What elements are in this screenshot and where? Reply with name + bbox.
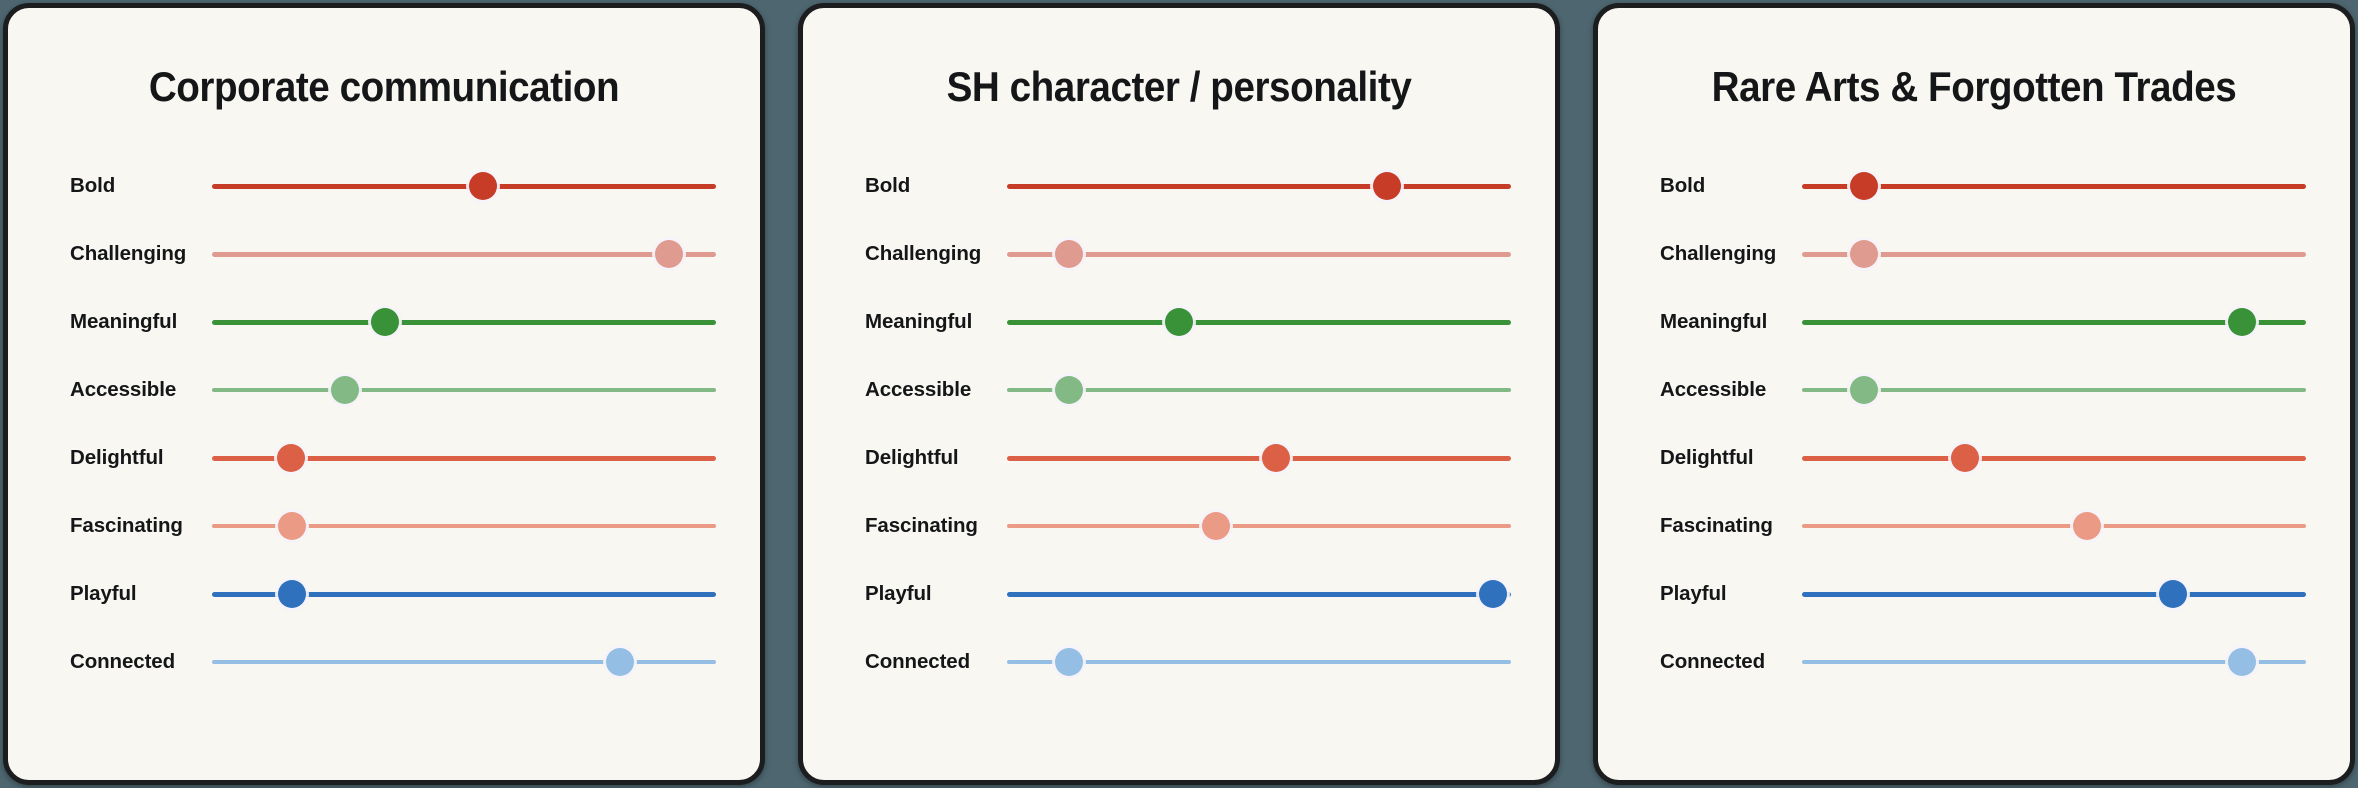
slider-control[interactable] [1802,647,2306,677]
slider-row[interactable]: Challenging [8,220,760,288]
slider-label: Connected [1660,650,1802,674]
slider-thumb[interactable] [278,512,306,540]
slider-label: Challenging [70,242,212,266]
slider-track[interactable] [212,660,716,664]
slider-label: Accessible [865,378,1007,402]
slider-thumb[interactable] [1055,240,1083,268]
slider-row[interactable]: Challenging [1598,220,2350,288]
slider-thumb[interactable] [1165,308,1193,336]
slider-label: Delightful [1660,446,1802,470]
slider-label: Challenging [865,242,1007,266]
slider-thumb[interactable] [2228,308,2256,336]
slider-thumb[interactable] [2159,580,2187,608]
slider-control[interactable] [1802,239,2306,269]
slider-thumb[interactable] [1262,444,1290,472]
slider-row[interactable]: Delightful [803,424,1555,492]
slider-row[interactable]: Playful [803,560,1555,628]
slider-control[interactable] [212,647,716,677]
slider-control[interactable] [1007,443,1511,473]
slider-thumb[interactable] [278,580,306,608]
slider-row[interactable]: Bold [1598,152,2350,220]
slider-label: Bold [1660,174,1802,198]
slider-label: Bold [70,174,212,198]
slider-control[interactable] [1802,307,2306,337]
slider-control[interactable] [212,307,716,337]
slider-list-2: BoldChallengingMeaningfulAccessibleDelig… [803,152,1555,696]
slider-track[interactable] [212,388,716,392]
slider-list-1: BoldChallengingMeaningfulAccessibleDelig… [8,152,760,696]
slider-track[interactable] [1007,592,1511,597]
slider-thumb[interactable] [2228,648,2256,676]
slider-label: Meaningful [865,310,1007,334]
slider-list-3: BoldChallengingMeaningfulAccessibleDelig… [1598,152,2350,696]
slider-control[interactable] [1802,511,2306,541]
comparison-card-1: Corporate communication BoldChallengingM… [3,3,765,785]
slider-row[interactable]: Playful [1598,560,2350,628]
slider-control[interactable] [1007,307,1511,337]
slider-row[interactable]: Fascinating [803,492,1555,560]
slider-row[interactable]: Accessible [1598,356,2350,424]
slider-control[interactable] [1007,579,1511,609]
slider-row[interactable]: Bold [8,152,760,220]
slider-row[interactable]: Meaningful [8,288,760,356]
page-title: Rare Arts & Forgotten Trades [1628,66,2320,108]
slider-track[interactable] [1007,456,1511,461]
slider-track[interactable] [1007,320,1511,325]
slider-thumb[interactable] [371,308,399,336]
slider-track[interactable] [1007,184,1511,189]
slider-label: Bold [865,174,1007,198]
slider-label: Connected [865,650,1007,674]
slider-control[interactable] [212,375,716,405]
slider-control[interactable] [212,443,716,473]
slider-thumb[interactable] [606,648,634,676]
slider-label: Meaningful [70,310,212,334]
slider-row[interactable]: Fascinating [1598,492,2350,560]
slider-label: Fascinating [1660,514,1802,538]
slider-control[interactable] [212,239,716,269]
slider-row[interactable]: Delightful [8,424,760,492]
slider-label: Connected [70,650,212,674]
slider-row[interactable]: Connected [803,628,1555,696]
slider-row[interactable]: Meaningful [1598,288,2350,356]
slider-control[interactable] [1007,375,1511,405]
slider-row[interactable]: Connected [1598,628,2350,696]
slider-control[interactable] [1007,511,1511,541]
slider-thumb[interactable] [1373,172,1401,200]
slider-control[interactable] [1802,579,2306,609]
slider-control[interactable] [212,511,716,541]
slider-thumb[interactable] [1202,512,1230,540]
slider-thumb[interactable] [1850,172,1878,200]
slider-track[interactable] [1802,524,2306,528]
slider-track[interactable] [1802,456,2306,461]
slider-track[interactable] [212,320,716,325]
slider-track[interactable] [212,252,716,257]
slider-label: Delightful [70,446,212,470]
slider-row[interactable]: Bold [803,152,1555,220]
slider-thumb[interactable] [469,172,497,200]
slider-thumb[interactable] [1850,376,1878,404]
slider-control[interactable] [1802,443,2306,473]
slider-thumb[interactable] [1850,240,1878,268]
slider-row[interactable]: Meaningful [803,288,1555,356]
slider-label: Playful [865,582,1007,606]
slider-label: Meaningful [1660,310,1802,334]
slider-track[interactable] [1007,524,1511,528]
slider-control[interactable] [212,171,716,201]
slider-row[interactable]: Challenging [803,220,1555,288]
slider-row[interactable]: Connected [8,628,760,696]
slider-label: Delightful [865,446,1007,470]
slider-label: Playful [70,582,212,606]
slider-thumb[interactable] [277,444,305,472]
slider-thumb[interactable] [655,240,683,268]
slider-row[interactable]: Accessible [8,356,760,424]
slider-control[interactable] [1007,171,1511,201]
slider-label: Accessible [1660,378,1802,402]
slider-label: Accessible [70,378,212,402]
slider-thumb[interactable] [1951,444,1979,472]
slider-control[interactable] [1802,375,2306,405]
slider-track[interactable] [212,184,716,189]
slider-thumb[interactable] [1055,376,1083,404]
slider-track[interactable] [1802,592,2306,597]
slider-row[interactable]: Playful [8,560,760,628]
slider-thumb[interactable] [1055,648,1083,676]
slider-label: Fascinating [865,514,1007,538]
slider-row[interactable]: Fascinating [8,492,760,560]
slider-thumb[interactable] [1479,580,1507,608]
slider-thumb[interactable] [331,376,359,404]
comparison-card-2: SH character / personality BoldChallengi… [798,3,1560,785]
slider-label: Fascinating [70,514,212,538]
slider-control[interactable] [1802,171,2306,201]
slider-row[interactable]: Delightful [1598,424,2350,492]
slider-row[interactable]: Accessible [803,356,1555,424]
slider-label: Challenging [1660,242,1802,266]
slider-control[interactable] [1007,647,1511,677]
page-title: SH character / personality [833,66,1525,108]
comparison-card-3: Rare Arts & Forgotten Trades BoldChallen… [1593,3,2355,785]
slider-thumb[interactable] [2073,512,2101,540]
slider-control[interactable] [1007,239,1511,269]
page-title: Corporate communication [38,66,730,108]
slider-control[interactable] [212,579,716,609]
slider-label: Playful [1660,582,1802,606]
